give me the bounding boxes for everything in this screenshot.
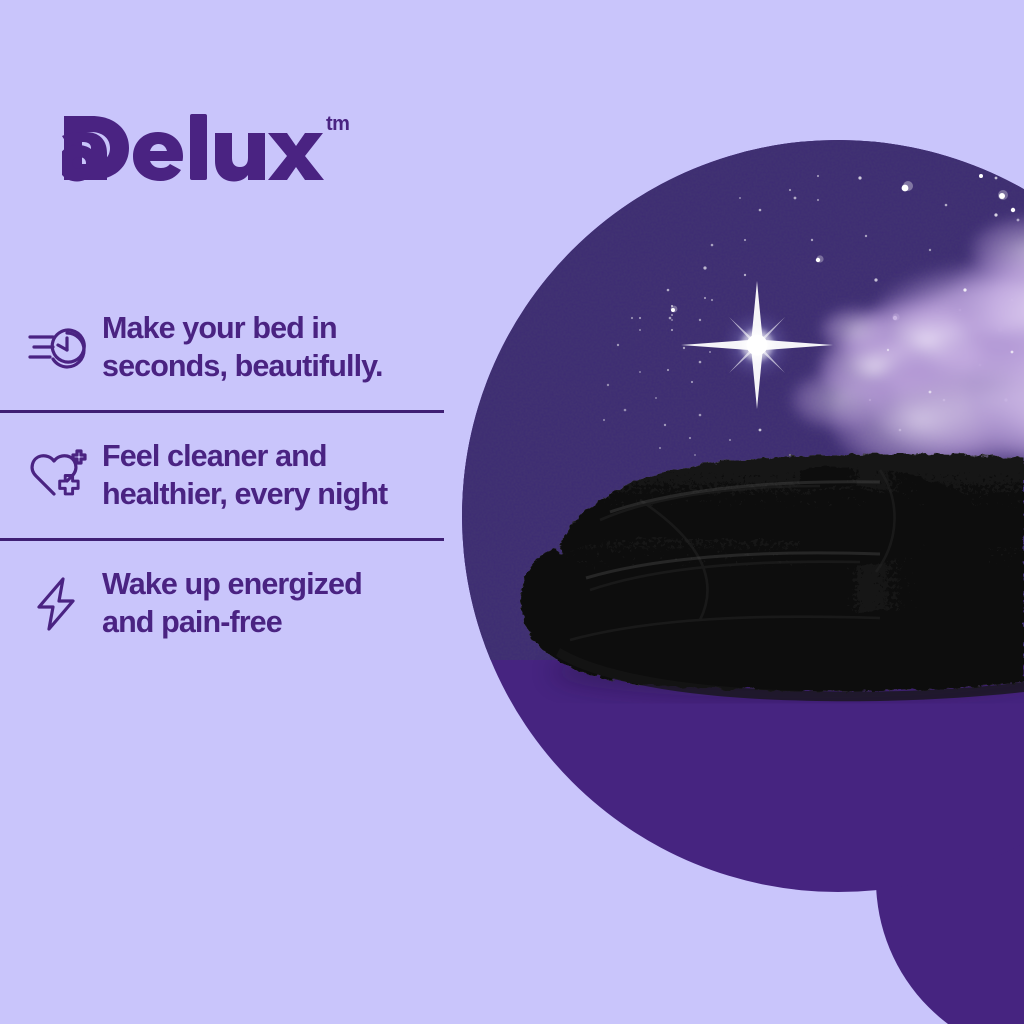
product-marketing-banner: tm Make your bed in: [0, 0, 1024, 1024]
feature-line-2: seconds, beautifully.: [102, 348, 383, 385]
feature-line-1: Make your bed in: [102, 310, 383, 347]
feature-line-1: Wake up energized: [102, 566, 362, 603]
feature-line-1: Feel cleaner and: [102, 438, 387, 475]
feature-text-energy: Wake up energized and pain-free: [102, 566, 362, 640]
feature-list: Make your bed in seconds, beautifully. F…: [0, 285, 560, 666]
feature-item-energy: Wake up energized and pain-free: [0, 541, 560, 666]
deluxa-wordmark: [62, 112, 324, 184]
feature-line-2: healthier, every night: [102, 476, 387, 513]
heart-plus-icon: [18, 448, 96, 504]
feature-line-2: and pain-free: [102, 604, 362, 641]
feature-item-speed: Make your bed in seconds, beautifully.: [0, 285, 560, 410]
feature-text-speed: Make your bed in seconds, beautifully.: [102, 310, 383, 384]
feature-text-health: Feel cleaner and healthier, every night: [102, 438, 387, 512]
fast-clock-icon: [18, 323, 96, 373]
lightning-bolt-icon: [18, 575, 96, 633]
feature-item-health: Feel cleaner and healthier, every night: [0, 413, 560, 538]
brand-logo[interactable]: tm: [62, 112, 349, 184]
trademark-symbol: tm: [326, 114, 349, 134]
